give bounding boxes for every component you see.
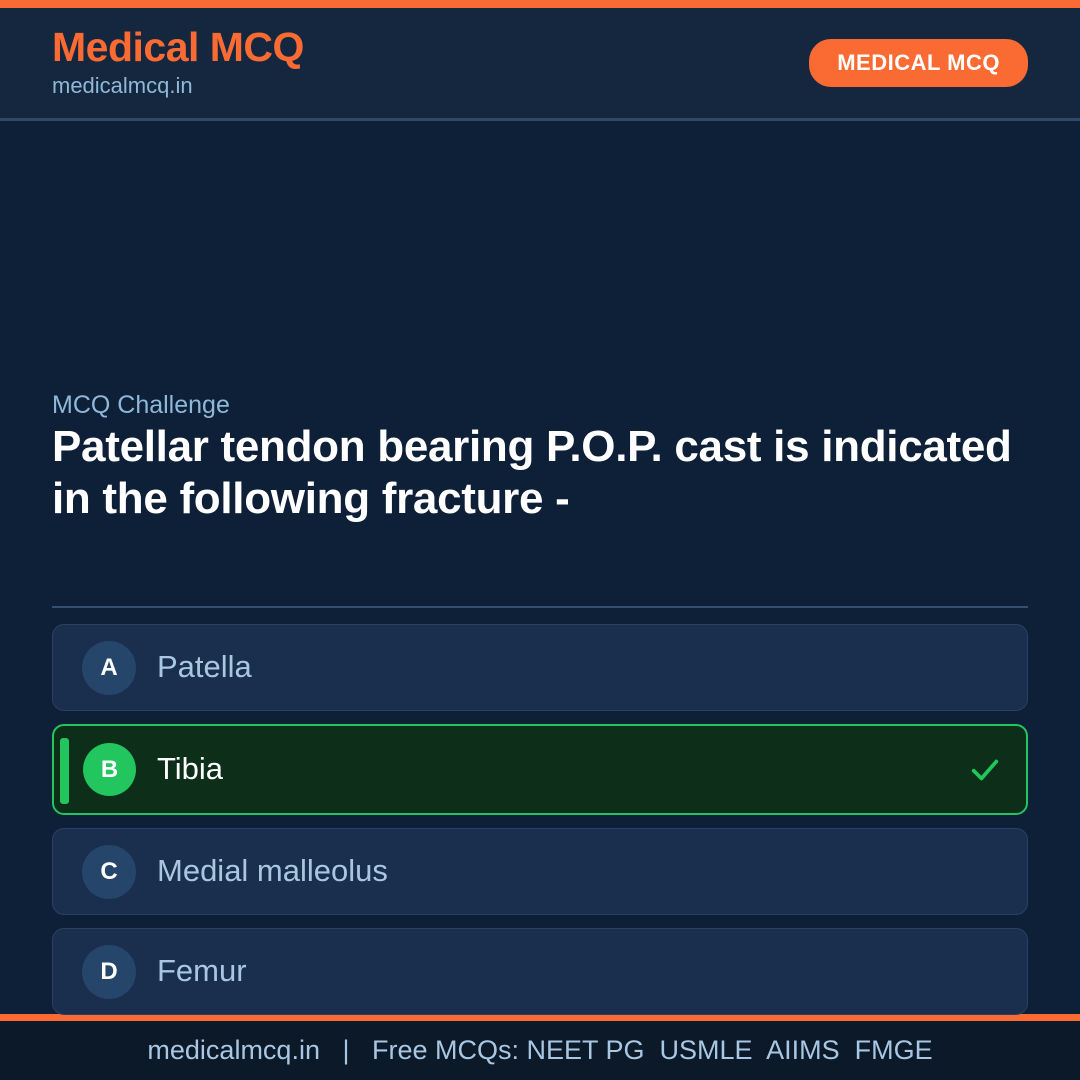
- header: Medical MCQ medicalmcq.in MEDICAL MCQ: [0, 8, 1080, 121]
- option-b[interactable]: B Tibia: [52, 724, 1028, 815]
- check-icon: [968, 753, 1002, 787]
- option-label: Femur: [157, 954, 1003, 988]
- question-divider: [52, 606, 1028, 608]
- option-letter-badge: C: [82, 845, 136, 899]
- mcq-card: Medical MCQ medicalmcq.in MEDICAL MCQ MC…: [0, 0, 1080, 1080]
- option-label: Patella: [157, 650, 1003, 684]
- correct-accent-bar: [60, 738, 69, 804]
- option-letter-badge: A: [82, 641, 136, 695]
- header-badge[interactable]: MEDICAL MCQ: [809, 39, 1028, 87]
- option-letter-badge: B: [83, 743, 136, 796]
- brand-subtitle: medicalmcq.in: [52, 73, 304, 99]
- option-a[interactable]: A Patella: [52, 624, 1028, 711]
- footer: medicalmcq.in | Free MCQs: NEET PG USMLE…: [0, 1021, 1080, 1080]
- top-accent-strip: [0, 0, 1080, 8]
- main-content: MCQ Challenge Patellar tendon bearing P.…: [0, 121, 1080, 1014]
- option-letter-badge: D: [82, 945, 136, 999]
- brand-title: Medical MCQ: [52, 26, 304, 69]
- option-label: Tibia: [157, 752, 968, 786]
- question-text: Patellar tendon bearing P.O.P. cast is i…: [52, 421, 1028, 525]
- brand: Medical MCQ medicalmcq.in: [52, 26, 304, 99]
- option-label: Medial malleolus: [157, 854, 1003, 888]
- eyebrow-label: MCQ Challenge: [52, 391, 230, 420]
- options-list: A Patella B Tibia C Medial malleolus D F…: [52, 624, 1028, 1028]
- footer-text: medicalmcq.in | Free MCQs: NEET PG USMLE…: [147, 1035, 932, 1066]
- option-d[interactable]: D Femur: [52, 928, 1028, 1015]
- option-c[interactable]: C Medial malleolus: [52, 828, 1028, 915]
